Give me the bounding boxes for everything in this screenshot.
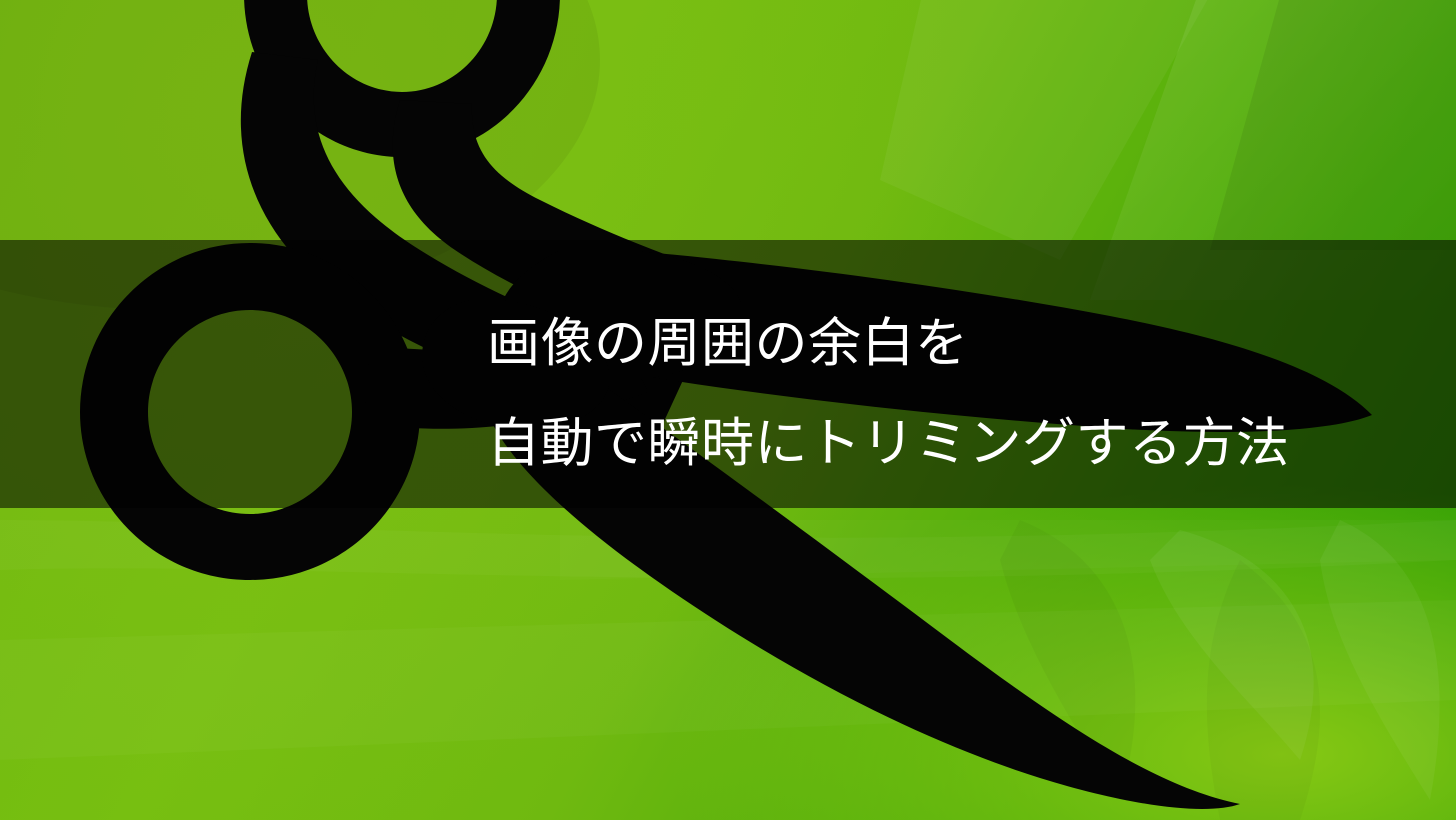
title-line-1: 画像の周囲の余白を	[487, 294, 1387, 394]
title-line-2: 自動で瞬時にトリミングする方法	[487, 394, 1387, 494]
title-block: 画像の周囲の余白を 自動で瞬時にトリミングする方法	[487, 294, 1387, 494]
banner-image: 画像の周囲の余白を 自動で瞬時にトリミングする方法	[0, 0, 1456, 820]
